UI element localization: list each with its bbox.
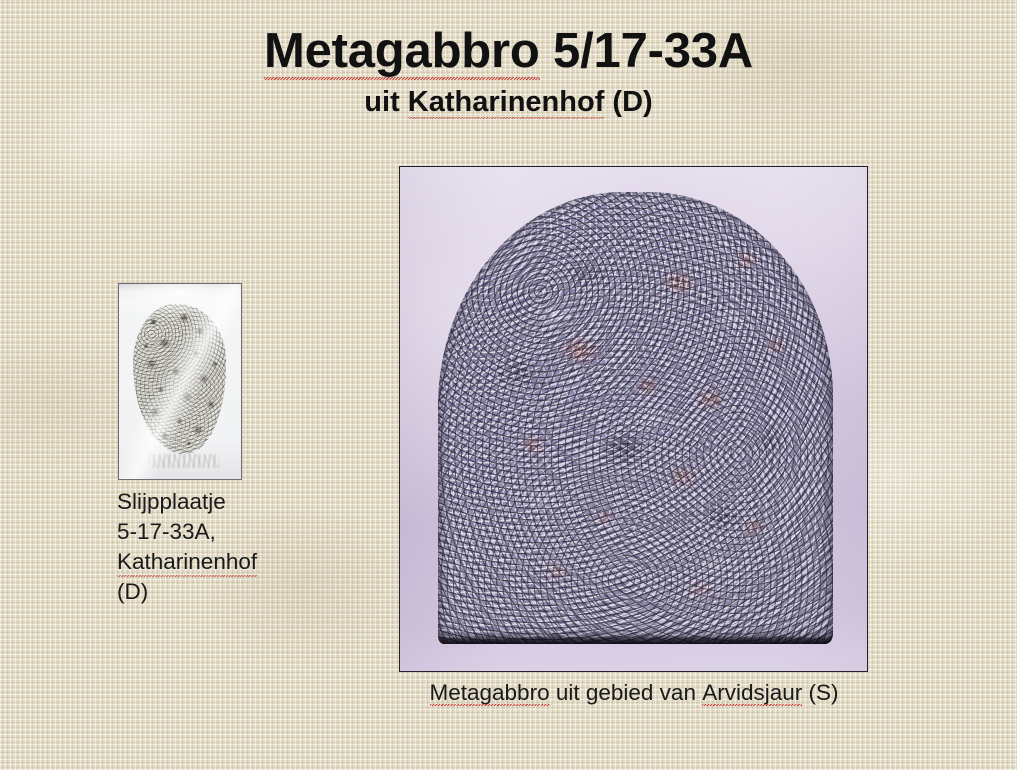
caption-line-1: Slijpplaatje xyxy=(117,487,332,517)
page-subtitle: uit Katharinenhof (D) xyxy=(0,87,1017,119)
presentation-slide: Metagabbro 5/17-33A uit Katharinenhof (D… xyxy=(0,0,1017,770)
specimen-rim-shading xyxy=(438,192,833,644)
thin-section-figure xyxy=(118,283,242,480)
metagabbro-specimen xyxy=(438,192,833,644)
title-block: Metagabbro 5/17-33A uit Katharinenhof (D… xyxy=(0,26,1017,119)
subtitle-prefix: uit xyxy=(364,86,408,118)
subtitle-suffix: (D) xyxy=(604,86,652,118)
rock-caption-misspelled-word-2: Arvidsjaur xyxy=(702,680,802,706)
rock-specimen-caption: Metagabbro uit gebied van Arvidsjaur (S) xyxy=(399,680,869,706)
thin-section-caption: Slijpplaatje 5-17-33A, Katharinenhof (D) xyxy=(117,487,332,607)
rock-specimen-figure xyxy=(399,166,868,672)
rock-caption-misspelled-word-1: Metagabbro xyxy=(430,680,550,706)
caption-misspelled-word: Katharinenhof xyxy=(117,547,257,577)
subtitle-misspelled-word: Katharinenhof xyxy=(408,87,605,119)
metagabbro-hand-specimen-photo xyxy=(399,166,868,672)
page-title: Metagabbro 5/17-33A xyxy=(0,26,1017,77)
caption-line-2: 5-17-33A, xyxy=(117,517,332,547)
thin-section-glass-sheen xyxy=(119,284,241,479)
rock-caption-middle: uit gebied van xyxy=(550,680,703,705)
caption-line-4: (D) xyxy=(117,577,332,607)
specimen-bottom-edge xyxy=(438,637,833,644)
title-identifier: 5/17-33A xyxy=(540,24,753,78)
rock-caption-suffix: (S) xyxy=(802,680,838,705)
caption-line-3-wrapper: Katharinenhof xyxy=(117,547,332,577)
slijpplaatje-photo xyxy=(118,283,242,480)
title-misspelled-word: Metagabbro xyxy=(264,26,540,77)
